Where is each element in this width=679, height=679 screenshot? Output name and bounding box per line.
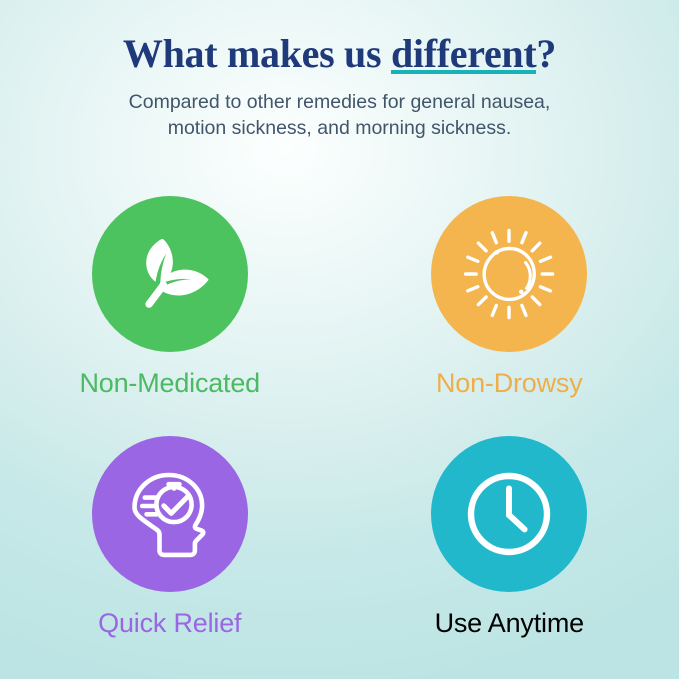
leaf-icon — [122, 226, 218, 322]
feature-card-quick-relief: Quick Relief — [0, 430, 340, 670]
feature-badge — [431, 436, 587, 592]
feature-label: Non-Drowsy — [436, 370, 583, 397]
header: What makes us different? Compared to oth… — [0, 32, 679, 141]
feature-card-use-anytime: Use Anytime — [340, 430, 679, 670]
feature-card-non-drowsy: Non-Drowsy — [340, 190, 679, 430]
headline-text-after: ? — [536, 31, 556, 76]
promo-graphic: What makes us different? Compared to oth… — [0, 0, 679, 679]
head-stopwatch-icon — [118, 462, 222, 566]
feature-label: Non-Medicated — [80, 370, 261, 397]
feature-label: Use Anytime — [435, 610, 584, 637]
feature-badge — [431, 196, 587, 352]
headline-text-before: What makes us — [123, 31, 391, 76]
sun-icon — [457, 222, 561, 326]
subtitle-line-1: Compared to other remedies for general n… — [0, 90, 679, 116]
feature-label: Quick Relief — [98, 610, 241, 637]
headline-emphasis: different — [391, 32, 536, 76]
subtitle-line-2: motion sickness, and morning sickness. — [0, 116, 679, 142]
feature-badge — [92, 196, 248, 352]
feature-grid: Non-Medicated — [0, 190, 679, 670]
page-title: What makes us different? — [0, 32, 679, 76]
feature-badge — [92, 436, 248, 592]
feature-card-non-medicated: Non-Medicated — [0, 190, 340, 430]
subtitle: Compared to other remedies for general n… — [0, 90, 679, 141]
clock-icon — [461, 466, 557, 562]
